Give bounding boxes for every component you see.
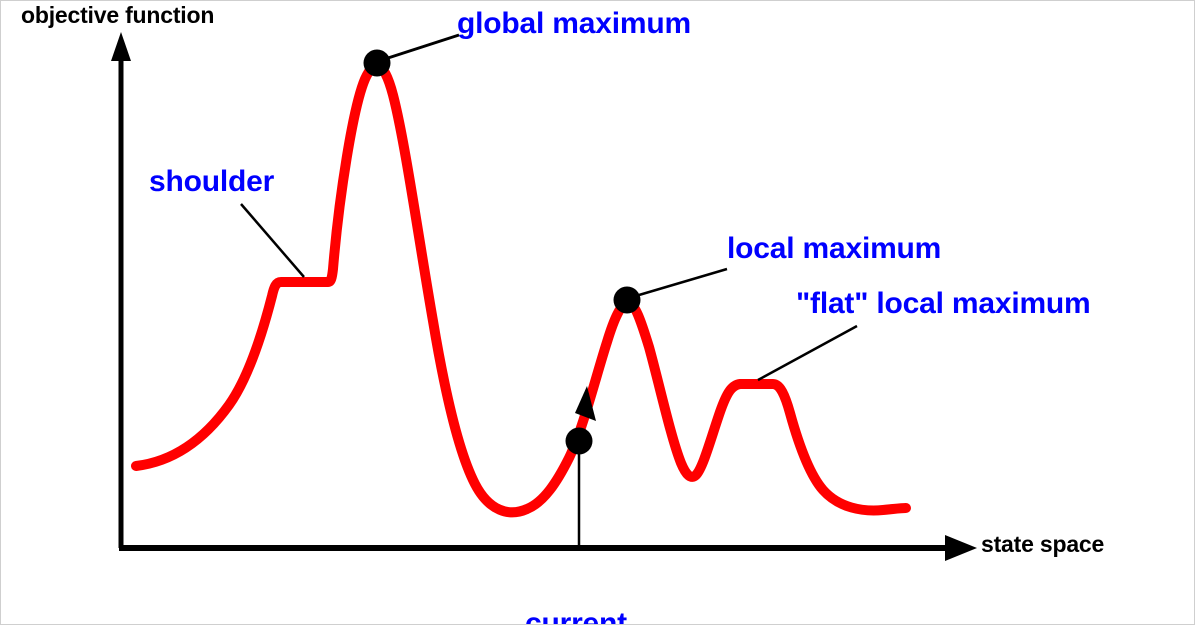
leader-lines-group <box>241 35 857 550</box>
marker-dots-group <box>364 50 641 455</box>
local-maximum-leader <box>639 269 727 295</box>
local-maximum-marker <box>614 287 641 314</box>
x-axis-label: state space <box>981 533 1104 556</box>
y-axis-label: objective function <box>21 4 214 27</box>
x-axis-arrowhead <box>945 535 977 561</box>
global-maximum-marker <box>364 50 391 77</box>
y-axis-arrowhead <box>111 32 131 61</box>
shoulder-label: shoulder <box>149 167 274 198</box>
current-state-marker <box>566 428 593 455</box>
objective-function-curve-group <box>136 66 906 512</box>
shoulder-leader <box>241 204 304 277</box>
global-maximum-leader <box>388 35 459 58</box>
flat-local-maximum-leader <box>758 326 857 380</box>
current-state-label: current state <box>525 548 627 625</box>
figure-canvas: objective function state space global ma… <box>0 0 1195 625</box>
local-maximum-label: local maximum <box>727 234 941 265</box>
flat-local-maximum-label: "flat" local maximum <box>796 289 1091 320</box>
global-maximum-label: global maximum <box>457 9 691 40</box>
current-state-label-line1: current <box>525 609 627 625</box>
objective-function-curve <box>136 66 906 512</box>
